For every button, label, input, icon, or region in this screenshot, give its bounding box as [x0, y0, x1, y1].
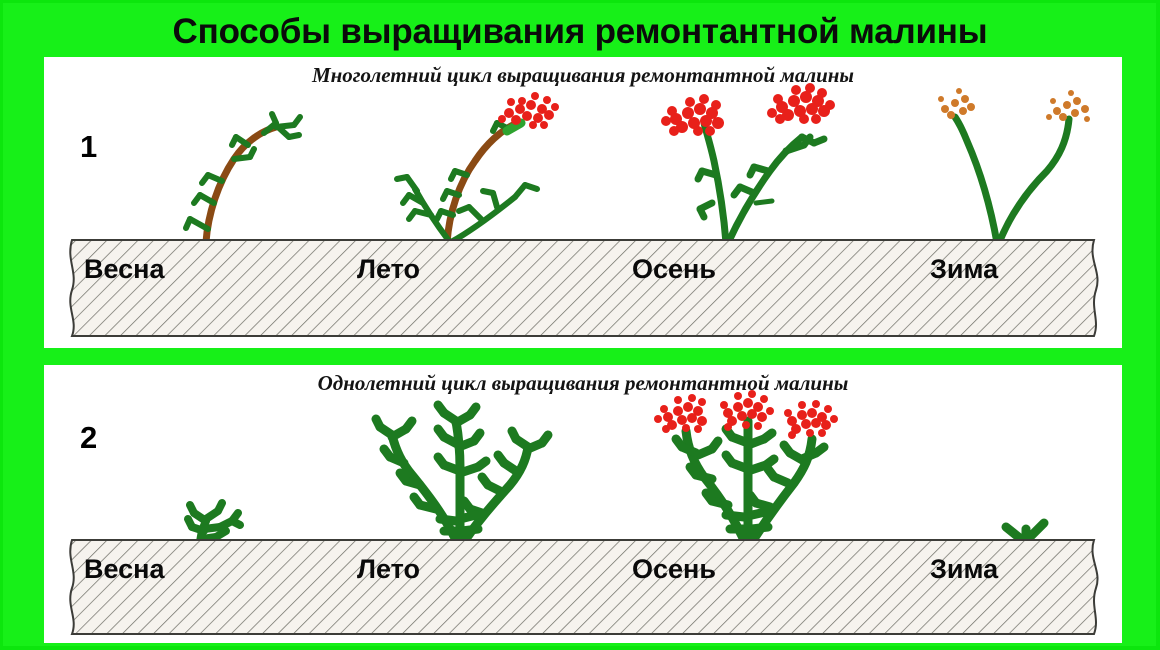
frame-edge-top: [0, 0, 1160, 3]
stage-illustration-winter: [937, 85, 1127, 245]
panel-annual-cycle: Однолетний цикл выращивания ремонтантной…: [44, 365, 1122, 643]
stage-illustration-summer: [389, 85, 609, 245]
season-label-spring: Весна: [84, 254, 165, 285]
stage-illustration-summer: [364, 405, 564, 550]
season-label-autumn: Осень: [632, 554, 716, 585]
season-label-spring: Весна: [84, 554, 165, 585]
stage-illustration-autumn: [654, 83, 874, 245]
poster-root: Способы выращивания ремонтантной малины …: [0, 0, 1160, 650]
season-label-summer: Лето: [357, 254, 420, 285]
stage-illustration-spring: [164, 109, 364, 244]
soil-band: Весна Лето Осень Зима: [62, 238, 1104, 338]
soil-band: Весна Лето Осень Зима: [62, 538, 1104, 636]
page-title: Способы выращивания ремонтантной малины: [0, 12, 1160, 52]
frame-edge-bottom: [0, 646, 1160, 650]
stage-illustration-autumn: [644, 387, 864, 549]
season-label-autumn: Осень: [632, 254, 716, 285]
season-labels: Весна Лето Осень Зима: [62, 238, 1104, 338]
season-label-winter: Зима: [930, 254, 998, 285]
season-label-winter: Зима: [930, 554, 998, 585]
panel-perennial-cycle: Многолетний цикл выращивания ремонтантно…: [44, 57, 1122, 348]
frame-edge-right: [1156, 0, 1160, 650]
season-label-summer: Лето: [357, 554, 420, 585]
frame-edge-left: [0, 0, 3, 650]
season-labels: Весна Лето Осень Зима: [62, 538, 1104, 636]
